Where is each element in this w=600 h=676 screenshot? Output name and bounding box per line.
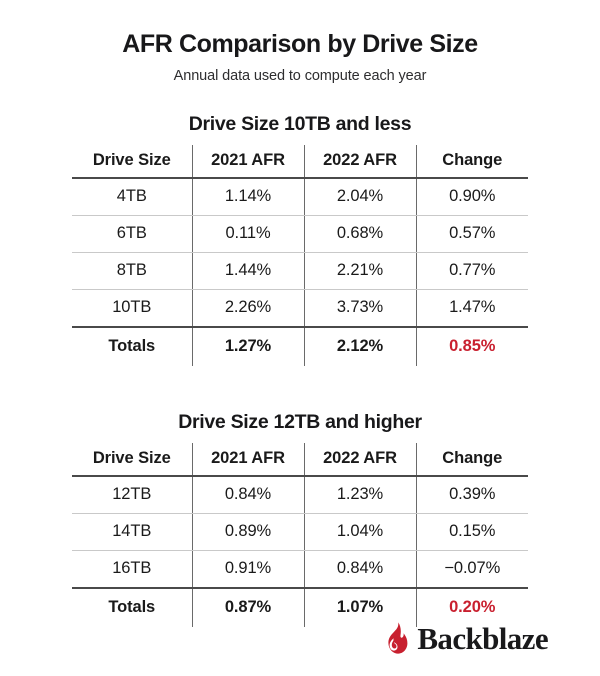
cell-change: 0.15%: [416, 513, 528, 550]
table-title: Drive Size 12TB and higher: [72, 411, 528, 434]
cell-2021-afr: 0.11%: [192, 215, 304, 252]
table-row: 6TB 0.11% 0.68% 0.57%: [72, 215, 528, 252]
cell-2022-afr: 1.04%: [304, 513, 416, 550]
header: AFR Comparison by Drive Size Annual data…: [0, 0, 600, 84]
cell-totals-2022-afr: 1.07%: [304, 588, 416, 627]
cell-drive-size: 8TB: [72, 252, 192, 289]
column-header-2022-afr: 2022 AFR: [304, 145, 416, 178]
table-block-10tb-and-less: Drive Size 10TB and less Drive Size 2021…: [72, 113, 528, 366]
cell-totals-2021-afr: 0.87%: [192, 588, 304, 627]
table-row: 16TB 0.91% 0.84% −0.07%: [72, 550, 528, 588]
cell-totals-change: 0.85%: [416, 327, 528, 366]
cell-2022-afr: 1.23%: [304, 476, 416, 514]
cell-2022-afr: 2.04%: [304, 178, 416, 216]
cell-change: −0.07%: [416, 550, 528, 588]
cell-totals-label: Totals: [72, 588, 192, 627]
table-body: 4TB 1.14% 2.04% 0.90% 6TB 0.11% 0.68% 0.…: [72, 178, 528, 366]
table-header-row: Drive Size 2021 AFR 2022 AFR Change: [72, 145, 528, 178]
cell-drive-size: 14TB: [72, 513, 192, 550]
table-totals-row: Totals 1.27% 2.12% 0.85%: [72, 327, 528, 366]
column-header-change: Change: [416, 145, 528, 178]
cell-2021-afr: 0.89%: [192, 513, 304, 550]
table-row: 12TB 0.84% 1.23% 0.39%: [72, 476, 528, 514]
cell-2021-afr: 1.14%: [192, 178, 304, 216]
cell-2021-afr: 0.91%: [192, 550, 304, 588]
afr-table-10tb-and-less: Drive Size 2021 AFR 2022 AFR Change 4TB …: [72, 145, 528, 366]
table-header: Drive Size 2021 AFR 2022 AFR Change: [72, 443, 528, 476]
cell-change: 0.39%: [416, 476, 528, 514]
cell-totals-2021-afr: 1.27%: [192, 327, 304, 366]
column-header-2022-afr: 2022 AFR: [304, 443, 416, 476]
page-subtitle: Annual data used to compute each year: [0, 68, 600, 84]
table-row: 14TB 0.89% 1.04% 0.15%: [72, 513, 528, 550]
table-header: Drive Size 2021 AFR 2022 AFR Change: [72, 145, 528, 178]
cell-totals-label: Totals: [72, 327, 192, 366]
cell-change: 0.57%: [416, 215, 528, 252]
page-title: AFR Comparison by Drive Size: [0, 31, 600, 59]
table-row: 10TB 2.26% 3.73% 1.47%: [72, 289, 528, 327]
column-header-2021-afr: 2021 AFR: [192, 443, 304, 476]
afr-table-12tb-and-higher: Drive Size 2021 AFR 2022 AFR Change 12TB…: [72, 443, 528, 627]
column-header-drive-size: Drive Size: [72, 443, 192, 476]
cell-drive-size: 12TB: [72, 476, 192, 514]
backblaze-logo: Backblaze: [385, 622, 548, 654]
infographic-page: AFR Comparison by Drive Size Annual data…: [0, 0, 600, 676]
table-title: Drive Size 10TB and less: [72, 113, 528, 136]
table-row: 8TB 1.44% 2.21% 0.77%: [72, 252, 528, 289]
cell-2021-afr: 2.26%: [192, 289, 304, 327]
cell-change: 0.77%: [416, 252, 528, 289]
cell-change: 1.47%: [416, 289, 528, 327]
cell-2022-afr: 2.21%: [304, 252, 416, 289]
cell-2021-afr: 1.44%: [192, 252, 304, 289]
table-body: 12TB 0.84% 1.23% 0.39% 14TB 0.89% 1.04% …: [72, 476, 528, 627]
cell-drive-size: 4TB: [72, 178, 192, 216]
cell-drive-size: 10TB: [72, 289, 192, 327]
table-row: 4TB 1.14% 2.04% 0.90%: [72, 178, 528, 216]
brand-name: Backblaze: [417, 623, 548, 654]
cell-drive-size: 6TB: [72, 215, 192, 252]
cell-2022-afr: 3.73%: [304, 289, 416, 327]
column-header-drive-size: Drive Size: [72, 145, 192, 178]
cell-2021-afr: 0.84%: [192, 476, 304, 514]
table-block-12tb-and-higher: Drive Size 12TB and higher Drive Size 20…: [72, 411, 528, 627]
cell-totals-2022-afr: 2.12%: [304, 327, 416, 366]
cell-change: 0.90%: [416, 178, 528, 216]
column-header-change: Change: [416, 443, 528, 476]
cell-2022-afr: 0.68%: [304, 215, 416, 252]
column-header-2021-afr: 2021 AFR: [192, 145, 304, 178]
cell-2022-afr: 0.84%: [304, 550, 416, 588]
flame-icon: [385, 622, 409, 654]
cell-drive-size: 16TB: [72, 550, 192, 588]
table-header-row: Drive Size 2021 AFR 2022 AFR Change: [72, 443, 528, 476]
